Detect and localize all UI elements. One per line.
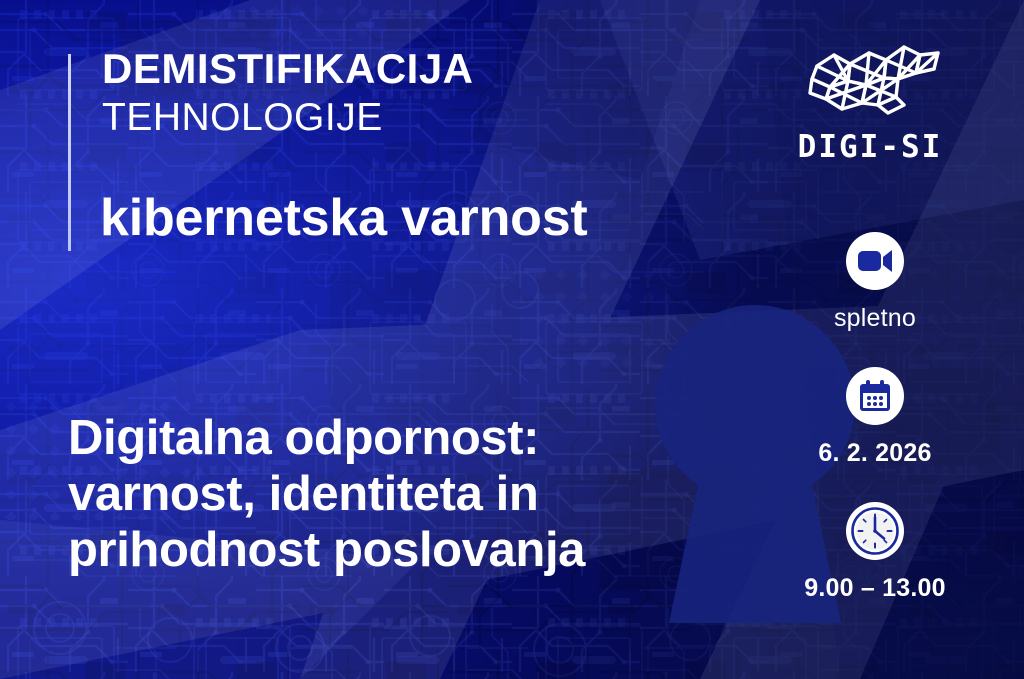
clock-icon xyxy=(849,505,901,557)
detail-date: 6. 2. 2026 xyxy=(778,367,972,466)
event-poster: DEMISTIFIKACIJA TEHNOLOGIJE kibernetska … xyxy=(0,0,1024,679)
calendar-badge xyxy=(846,367,904,425)
detail-date-label: 6. 2. 2026 xyxy=(778,441,972,466)
detail-time-label: 9.00 – 13.00 xyxy=(778,576,972,601)
detail-format-label: spletno xyxy=(778,306,972,331)
slovenia-polygon-icon xyxy=(800,33,940,119)
video-camera-icon xyxy=(857,248,893,274)
title-rule xyxy=(68,54,71,251)
digi-si-logo: DIGI-SI xyxy=(795,33,945,165)
detail-time: 9.00 – 13.00 xyxy=(778,502,972,601)
clock-badge xyxy=(846,502,904,560)
event-details: spletno 6. 2. 2026 xyxy=(778,232,972,637)
calendar-icon xyxy=(858,379,892,413)
page-title: Digitalna odpornost: varnost, identiteta… xyxy=(68,411,708,579)
topic-kicker: kibernetska varnost xyxy=(100,188,588,248)
detail-format: spletno xyxy=(778,232,972,331)
eyebrow: DEMISTIFIKACIJA TEHNOLOGIJE xyxy=(102,48,474,137)
eyebrow-line-2: TEHNOLOGIJE xyxy=(102,98,474,137)
logo-wordmark: DIGI-SI xyxy=(795,129,945,165)
video-camera-badge xyxy=(846,232,904,290)
eyebrow-line-1: DEMISTIFIKACIJA xyxy=(102,48,474,90)
